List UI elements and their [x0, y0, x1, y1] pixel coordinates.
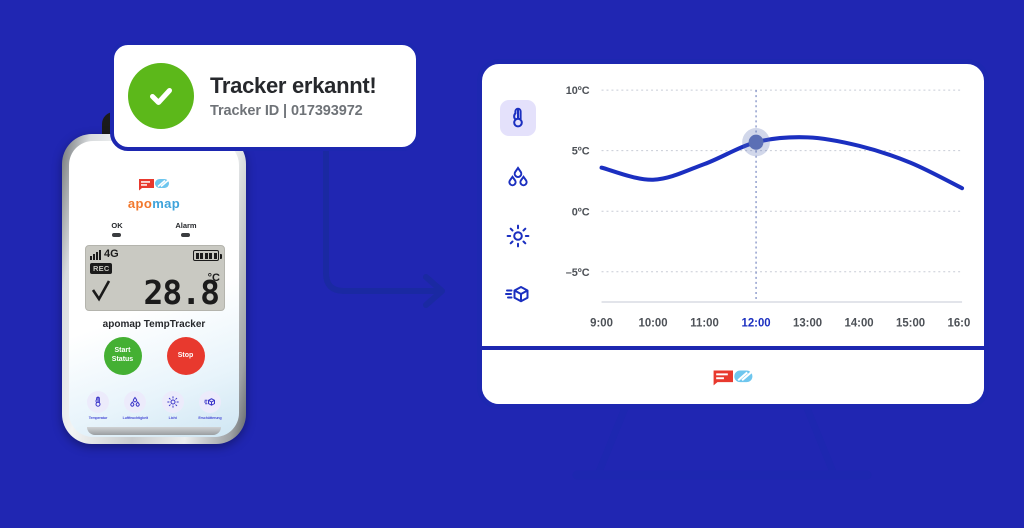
signal-bars-icon [90, 249, 101, 260]
lcd-temperature-unit: °C [208, 272, 220, 284]
shock-package-icon [505, 282, 531, 308]
illustration-canvas: Tracker erkannt! Tracker ID | 017393972 … [0, 0, 1024, 528]
humidity-droplets-icon [506, 165, 530, 189]
sensor-rail [482, 64, 554, 346]
lcd-status-row: 4G [90, 249, 119, 260]
chart-line-series [602, 137, 963, 188]
stop-button[interactable]: Stop [167, 337, 205, 375]
rail-light[interactable] [500, 218, 536, 254]
notification-subtitle: Tracker ID | 017393972 [210, 103, 376, 119]
device-sensor-light-label: Licht [158, 416, 188, 420]
device-sensor-light: Licht [158, 391, 188, 420]
y-axis-tick-label: 0ºC [572, 206, 590, 218]
battery-full-icon [193, 250, 219, 261]
device-sensor-shock-label: Erschütterung [195, 416, 225, 420]
status-leds: OK Alarm [69, 221, 239, 237]
x-axis-tick-label-active[interactable]: 12:00 [742, 317, 771, 329]
rail-humidity[interactable] [500, 159, 536, 195]
sun-light-icon [506, 224, 530, 248]
flow-arrow-icon [300, 125, 465, 320]
chart-canvas: 10ºC5ºC0ºC–5ºC9:0010:0011:0012:0013:0014… [554, 78, 970, 346]
humidity-droplets-icon [124, 391, 146, 413]
device-sensor-humidity: Luftfeuchtigkeit [120, 391, 150, 420]
device-sensor-shock: Erschütterung [195, 391, 225, 420]
brand-prefix: apo [128, 196, 152, 211]
notification-title: Tracker erkannt! [210, 73, 376, 98]
monitor-screen: 10ºC5ºC0ºC–5ºC9:0010:0011:0012:0013:0014… [482, 64, 984, 346]
apomap-pill-logo-icon [137, 177, 171, 191]
start-status-button[interactable]: Start Status [104, 337, 142, 375]
device-buttons: Start Status Stop [69, 337, 239, 375]
device-sensor-humidity-label: Luftfeuchtigkeit [120, 416, 150, 420]
x-axis-tick-label[interactable]: 13:00 [793, 317, 822, 329]
checkmark-icon [91, 279, 111, 303]
rail-temperature[interactable] [500, 100, 536, 136]
thermometer-icon [506, 106, 530, 130]
device-shell: apomap OK Alarm 4G [62, 134, 246, 444]
data-point-marker[interactable] [749, 135, 764, 150]
y-axis-tick-label: –5ºC [566, 267, 590, 279]
device-model-label: apomap TempTracker [69, 319, 239, 330]
x-axis-tick-label[interactable]: 10:00 [638, 317, 667, 329]
check-circle-icon [128, 63, 194, 129]
rail-shock[interactable] [500, 277, 536, 313]
device-bottom-edge [87, 427, 221, 435]
x-axis-tick-label[interactable]: 16:00 [948, 317, 970, 329]
device-brand-logo: apomap [69, 177, 239, 210]
brand-suffix: map [152, 196, 180, 211]
x-axis-tick-label[interactable]: 11:00 [690, 317, 718, 329]
tracker-detected-notification: Tracker erkannt! Tracker ID | 017393972 [110, 41, 420, 151]
device-sensor-temperature: Temperatur [83, 391, 113, 420]
sun-light-icon [162, 391, 184, 413]
led-indicator [112, 233, 121, 237]
start-button-line1: Start [115, 347, 131, 356]
temp-tracker-device: apomap OK Alarm 4G [56, 112, 252, 444]
device-front-panel: apomap OK Alarm 4G [69, 141, 239, 437]
network-label: 4G [104, 249, 119, 260]
led-alarm: Alarm [175, 221, 196, 237]
recording-badge: REC [90, 263, 112, 274]
monitor-footer [482, 350, 984, 404]
x-axis-tick-label[interactable]: 14:00 [845, 317, 874, 329]
led-alarm-label: Alarm [175, 221, 196, 230]
temperature-chart: 10ºC5ºC0ºC–5ºC9:0010:0011:0012:0013:0014… [554, 64, 984, 346]
apomap-pill-logo-icon [711, 367, 755, 387]
shock-package-icon [199, 391, 221, 413]
brand-wordmark: apomap [69, 197, 239, 210]
monitor-display: 10ºC5ºC0ºC–5ºC9:0010:0011:0012:0013:0014… [477, 59, 989, 409]
y-axis-tick-label: 10ºC [566, 85, 590, 97]
thermometer-icon [87, 391, 109, 413]
x-axis-tick-label[interactable]: 15:00 [896, 317, 925, 329]
x-axis-tick-label[interactable]: 9:00 [590, 317, 613, 329]
device-lcd-display: 4G REC 28.8 °C [85, 245, 225, 311]
led-ok-label: OK [111, 221, 122, 230]
monitor-stand [477, 406, 989, 486]
device-sensor-temperature-label: Temperatur [83, 416, 113, 420]
led-ok: OK [111, 221, 122, 237]
led-indicator [181, 233, 190, 237]
device-sensor-icons: Temperatur Luftfeuchtigkeit [69, 391, 239, 420]
start-button-line2: Status [112, 356, 133, 365]
y-axis-tick-label: 5ºC [572, 146, 590, 158]
stop-button-line1: Stop [178, 352, 194, 361]
